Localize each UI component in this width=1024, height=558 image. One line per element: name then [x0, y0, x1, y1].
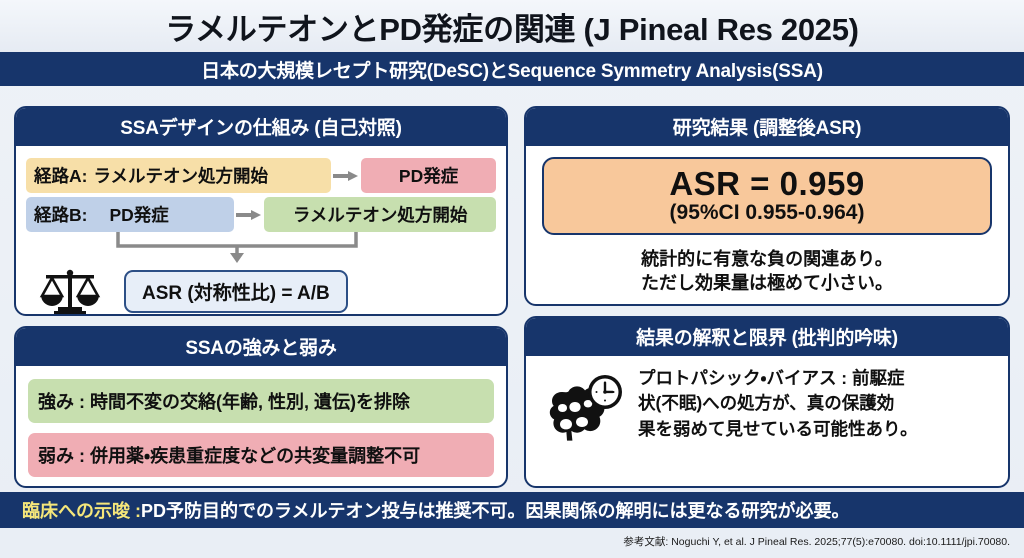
panel-strengths-weaknesses: SSAの強みと弱み 強み : 時間不変の交絡(年齢, 性別, 遺伝)を排除 弱み…	[14, 326, 508, 488]
result-note: 統計的に有意な負の関連あり。 ただし効果量は極めて小さい。	[536, 247, 998, 296]
main-content: SSAデザインの仕組み (自己対照) 経路A: ラメルテオン処方開始 PD発症	[0, 96, 1024, 488]
path-a-from-text: ラメルテオン処方開始	[93, 163, 267, 188]
panel-interpretation-body: プロトパシック・バイアス : 前駆症 状(不眠)への処方が、真の保護効 果を弱め…	[526, 356, 1008, 486]
interpretation-text: プロトパシック・バイアス : 前駆症 状(不眠)への処方が、真の保護効 果を弱め…	[638, 366, 998, 442]
panel-interpretation: 結果の解釈と限界 (批判的吟味)	[524, 316, 1010, 488]
interpretation-line1: プロトパシック・バイアス : 前駆症	[638, 366, 998, 391]
result-note-line1: 統計的に有意な負の関連あり。	[536, 247, 998, 271]
ratio-connector	[26, 232, 496, 266]
panel-interpretation-heading: 結果の解釈と限界 (批判的吟味)	[526, 318, 1008, 356]
strength-row: 強み : 時間不変の交絡(年齢, 性別, 遺伝)を排除	[28, 379, 494, 423]
page-subtitle: 日本の大規模レセプト研究(DeSC)とSequence Symmetry Ana…	[201, 56, 823, 83]
panel-result-body: ASR = 0.959 (95%CI 0.955-0.964) 統計的に有意な負…	[526, 146, 1008, 304]
path-b-outcome-chip: ラメルテオン処方開始	[264, 197, 496, 232]
panel-result: 研究結果 (調整後ASR) ASR = 0.959 (95%CI 0.955-0…	[524, 106, 1010, 306]
panel-strengths-weaknesses-heading: SSAの強みと弱み	[16, 328, 506, 366]
interpretation-line2: 状(不眠)への処方が、真の保護効	[638, 391, 998, 416]
clinical-implication-bar: 臨床への示唆 : PD予防目的でのラメルテオン投与は推奨不可。因果関係の解明には…	[0, 492, 1024, 528]
asr-formula-row: ASR (対称性比) = A/B	[26, 266, 496, 316]
citation: 参考文献: Noguchi Y, et al. J Pineal Res. 20…	[623, 534, 1010, 549]
page-title: ラメルテオンとPD発症の関連 (J Pineal Res 2025)	[165, 4, 858, 49]
asr-formula-box: ASR (対称性比) = A/B	[124, 270, 348, 313]
balance-scale-icon	[26, 266, 114, 316]
brain-clock-icon	[536, 366, 632, 446]
path-a-exposure-chip: 経路A: ラメルテオン処方開始	[26, 158, 331, 193]
infographic-root: ラメルテオンとPD発症の関連 (J Pineal Res 2025) 日本の大規…	[0, 0, 1024, 558]
asr-result-box: ASR = 0.959 (95%CI 0.955-0.964)	[542, 157, 992, 235]
path-b-exposure-chip: 経路B: PD発症	[26, 197, 234, 232]
path-b-from-text: PD発症	[109, 202, 168, 227]
panel-result-heading: 研究結果 (調整後ASR)	[526, 108, 1008, 146]
panel-ssa-design-body: 経路A: ラメルテオン処方開始 PD発症 経路B: PD発症	[16, 146, 506, 316]
panel-ssa-design: SSAデザインの仕組み (自己対照) 経路A: ラメルテオン処方開始 PD発症	[14, 106, 508, 316]
interpretation-row: プロトパシック・バイアス : 前駆症 状(不眠)への処方が、真の保護効 果を弱め…	[536, 364, 998, 446]
clinical-implication-label: 臨床への示唆 :	[22, 497, 141, 523]
path-a-arrow-icon	[331, 169, 361, 183]
path-a-outcome-chip: PD発症	[361, 158, 496, 193]
interpretation-line3: 果を弱めて見せている可能性あり。	[638, 417, 998, 442]
result-note-line2: ただし効果量は極めて小さい。	[536, 271, 998, 295]
panel-strengths-weaknesses-body: 強み : 時間不変の交絡(年齢, 性別, 遺伝)を排除 弱み : 併用薬・疾患重…	[16, 366, 506, 488]
path-b-row: 経路B: PD発症 ラメルテオン処方開始	[26, 197, 496, 232]
path-b-label: 経路B:	[34, 202, 87, 227]
left-column: SSAデザインの仕組み (自己対照) 経路A: ラメルテオン処方開始 PD発症	[0, 96, 516, 488]
right-column: 研究結果 (調整後ASR) ASR = 0.959 (95%CI 0.955-0…	[516, 96, 1024, 488]
path-a-row: 経路A: ラメルテオン処方開始 PD発症	[26, 158, 496, 193]
path-b-arrow-icon	[234, 208, 264, 222]
path-a-label: 経路A:	[34, 163, 87, 188]
title-banner: ラメルテオンとPD発症の関連 (J Pineal Res 2025)	[0, 0, 1024, 52]
weakness-row: 弱み : 併用薬・疾患重症度などの共変量調整不可	[28, 433, 494, 477]
asr-value: ASR = 0.959	[544, 165, 990, 203]
asr-confidence-interval: (95%CI 0.955-0.964)	[544, 201, 990, 225]
clinical-implication-text: PD予防目的でのラメルテオン投与は推奨不可。因果関係の解明には更なる研究が必要。	[141, 497, 849, 523]
panel-ssa-design-heading: SSAデザインの仕組み (自己対照)	[16, 108, 506, 146]
subtitle-banner: 日本の大規模レセプト研究(DeSC)とSequence Symmetry Ana…	[0, 52, 1024, 86]
